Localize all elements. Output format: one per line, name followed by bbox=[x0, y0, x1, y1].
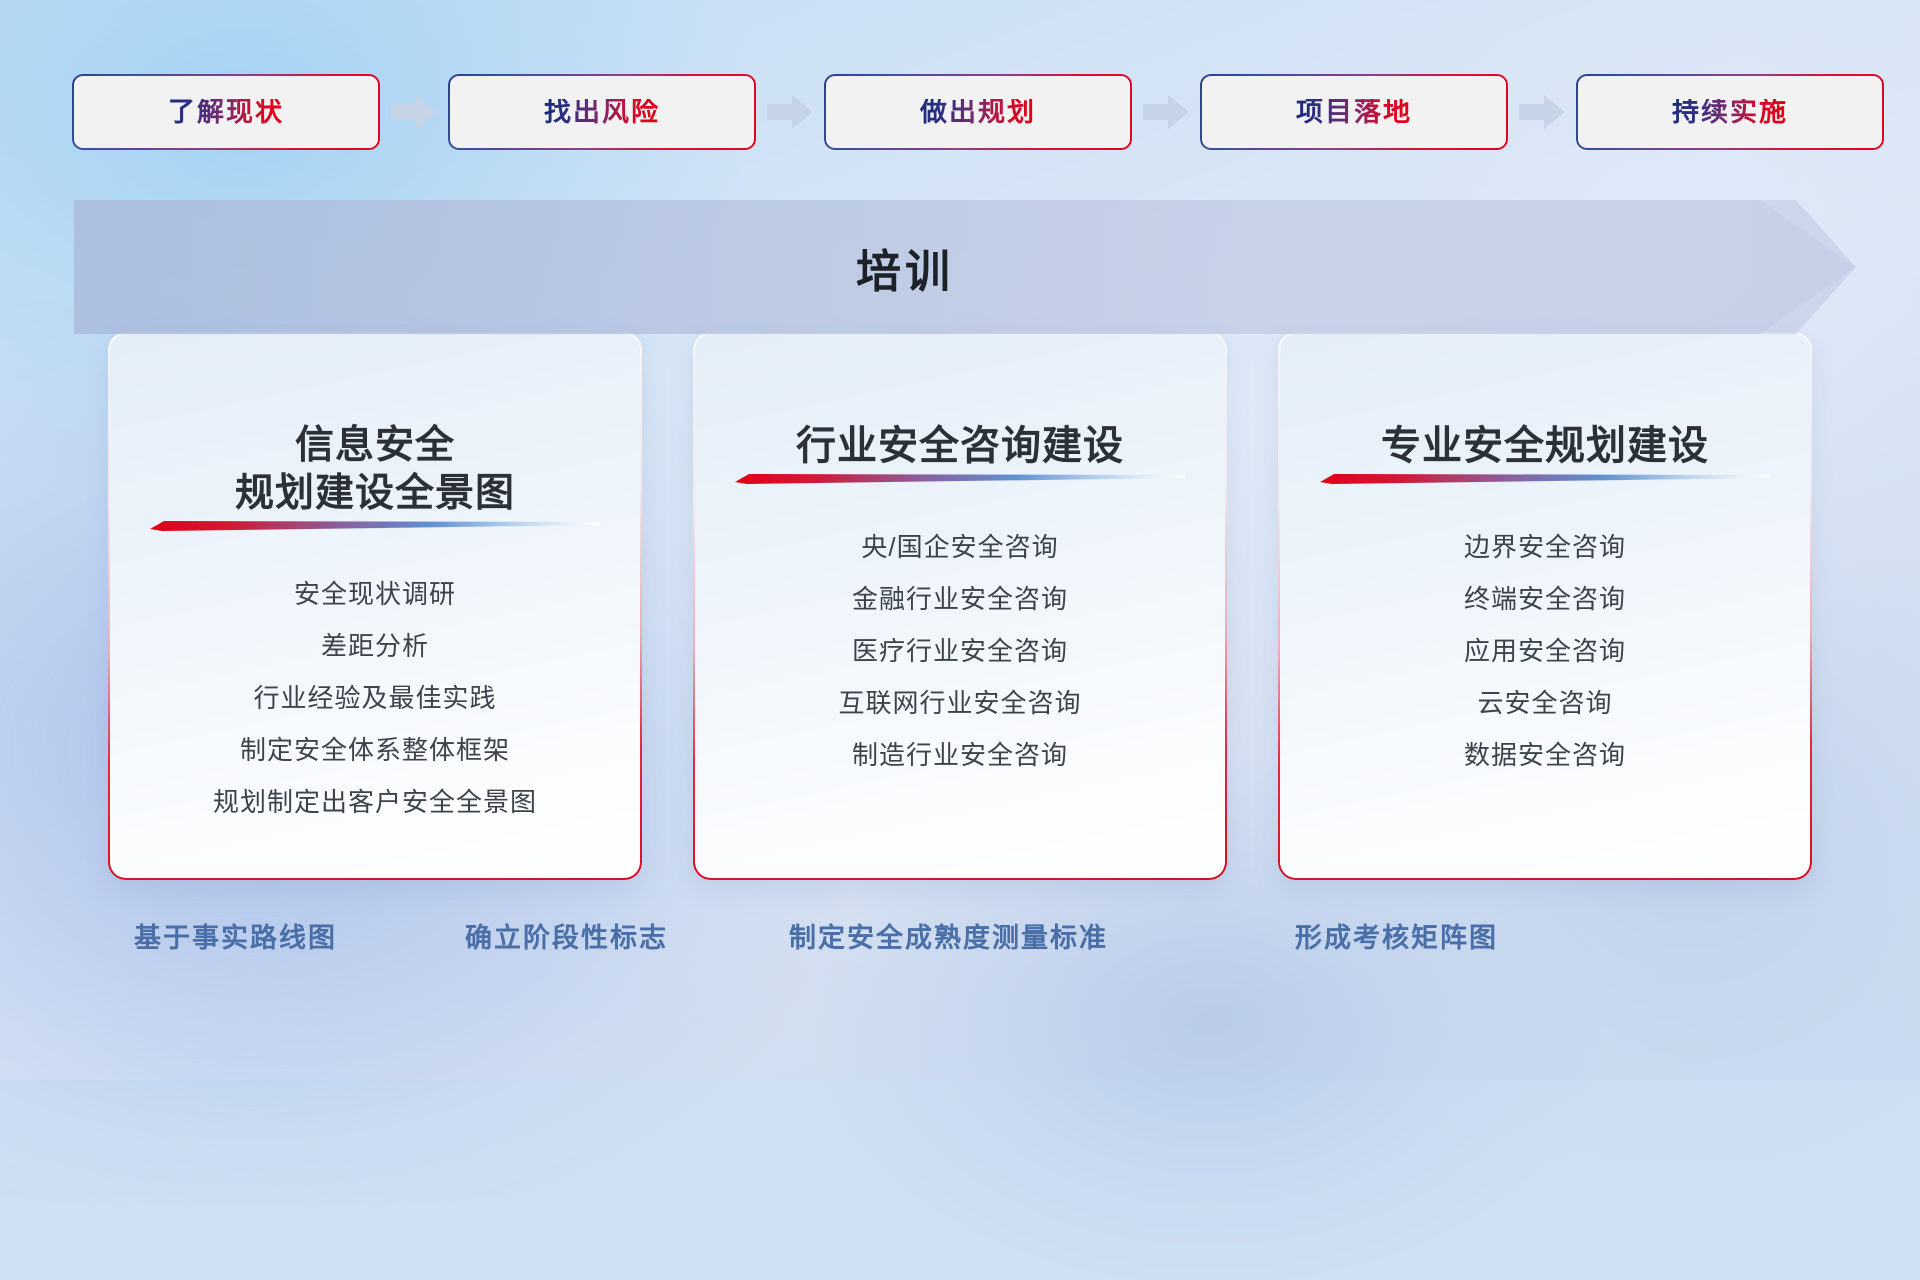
training-banner-title-wrap: 培训 bbox=[74, 200, 1856, 334]
card-industry-security-consulting[interactable]: 行业安全咨询建设 bbox=[695, 334, 1225, 878]
card-list-item: 制定安全体系整体框架 bbox=[240, 737, 510, 763]
card-list-item: 互联网行业安全咨询 bbox=[838, 690, 1081, 716]
process-step-3[interactable]: 做出规划 bbox=[826, 76, 1130, 148]
footer-label-row: 基于事实路线图 确立阶段性标志 制定安全成熟度测量标准 形成考核矩阵图 bbox=[0, 910, 1920, 966]
card-list-item: 云安全咨询 bbox=[1477, 690, 1612, 716]
footer-label-4: 形成考核矩阵图 bbox=[1295, 910, 1498, 966]
process-step-2[interactable]: 找出风险 bbox=[450, 76, 754, 148]
process-step-label: 持续实施 bbox=[1672, 99, 1788, 126]
card-list-item: 医疗行业安全咨询 bbox=[852, 638, 1068, 664]
process-step-4[interactable]: 项目落地 bbox=[1202, 76, 1506, 148]
card-list-item: 规划制定出客户安全全景图 bbox=[213, 789, 537, 815]
training-banner-title: 培训 bbox=[856, 235, 954, 300]
process-step-row: 了解现状 找出风险 做出规划 项目落地 bbox=[74, 76, 1856, 148]
card-row: 信息安全 规划建设全景图 bbox=[110, 334, 1810, 878]
card-content: 专业安全规划建设 bbox=[1280, 334, 1810, 878]
card-title: 行业安全咨询建设 bbox=[796, 422, 1124, 472]
chevron-right-arrow-icon bbox=[391, 95, 437, 129]
card-list-item: 安全现状调研 bbox=[294, 581, 456, 607]
card-list-item: 制造行业安全咨询 bbox=[852, 742, 1068, 768]
process-step-5[interactable]: 持续实施 bbox=[1578, 76, 1882, 148]
card-divider bbox=[735, 472, 1185, 484]
card-content: 信息安全 规划建设全景图 bbox=[110, 334, 640, 878]
process-step-label: 找出风险 bbox=[544, 99, 660, 126]
card-title: 专业安全规划建设 bbox=[1381, 422, 1709, 472]
training-banner: 培训 bbox=[74, 200, 1856, 334]
card-list-item: 终端安全咨询 bbox=[1464, 586, 1626, 612]
card-list-item: 差距分析 bbox=[321, 633, 429, 659]
card-professional-security-planning[interactable]: 专业安全规划建设 bbox=[1280, 334, 1810, 878]
chevron-right-arrow-icon bbox=[1143, 95, 1189, 129]
card-information-security-blueprint[interactable]: 信息安全 规划建设全景图 bbox=[110, 334, 640, 878]
card-list-item: 边界安全咨询 bbox=[1464, 534, 1626, 560]
process-step-1[interactable]: 了解现状 bbox=[74, 76, 378, 148]
card-list-item: 数据安全咨询 bbox=[1464, 742, 1626, 768]
card-item-list: 安全现状调研 差距分析 行业经验及最佳实践 制定安全体系整体框架 规划制定出客户… bbox=[144, 581, 606, 815]
slide-stage: 了解现状 找出风险 做出规划 项目落地 bbox=[0, 0, 1920, 1080]
card-title: 信息安全 规划建设全景图 bbox=[235, 422, 515, 519]
card-list-item: 金融行业安全咨询 bbox=[852, 586, 1068, 612]
card-item-list: 边界安全咨询 终端安全咨询 应用安全咨询 云安全咨询 数据安全咨询 bbox=[1314, 534, 1776, 768]
chevron-right-arrow-icon bbox=[1519, 95, 1565, 129]
footer-label-1: 基于事实路线图 bbox=[134, 910, 337, 966]
process-step-label: 了解现状 bbox=[168, 99, 284, 126]
card-list-item: 应用安全咨询 bbox=[1464, 638, 1626, 664]
card-content: 行业安全咨询建设 bbox=[695, 334, 1225, 878]
card-divider bbox=[150, 519, 600, 531]
card-divider bbox=[1320, 472, 1770, 484]
footer-label-3: 制定安全成熟度测量标准 bbox=[789, 910, 1108, 966]
process-step-label: 做出规划 bbox=[920, 99, 1036, 126]
card-item-list: 央/国企安全咨询 金融行业安全咨询 医疗行业安全咨询 互联网行业安全咨询 制造行… bbox=[729, 534, 1191, 768]
card-list-item: 行业经验及最佳实践 bbox=[253, 685, 496, 711]
card-list-item: 央/国企安全咨询 bbox=[861, 534, 1058, 560]
footer-label-2: 确立阶段性标志 bbox=[465, 910, 668, 966]
chevron-right-arrow-icon bbox=[767, 95, 813, 129]
process-step-label: 项目落地 bbox=[1296, 99, 1412, 126]
